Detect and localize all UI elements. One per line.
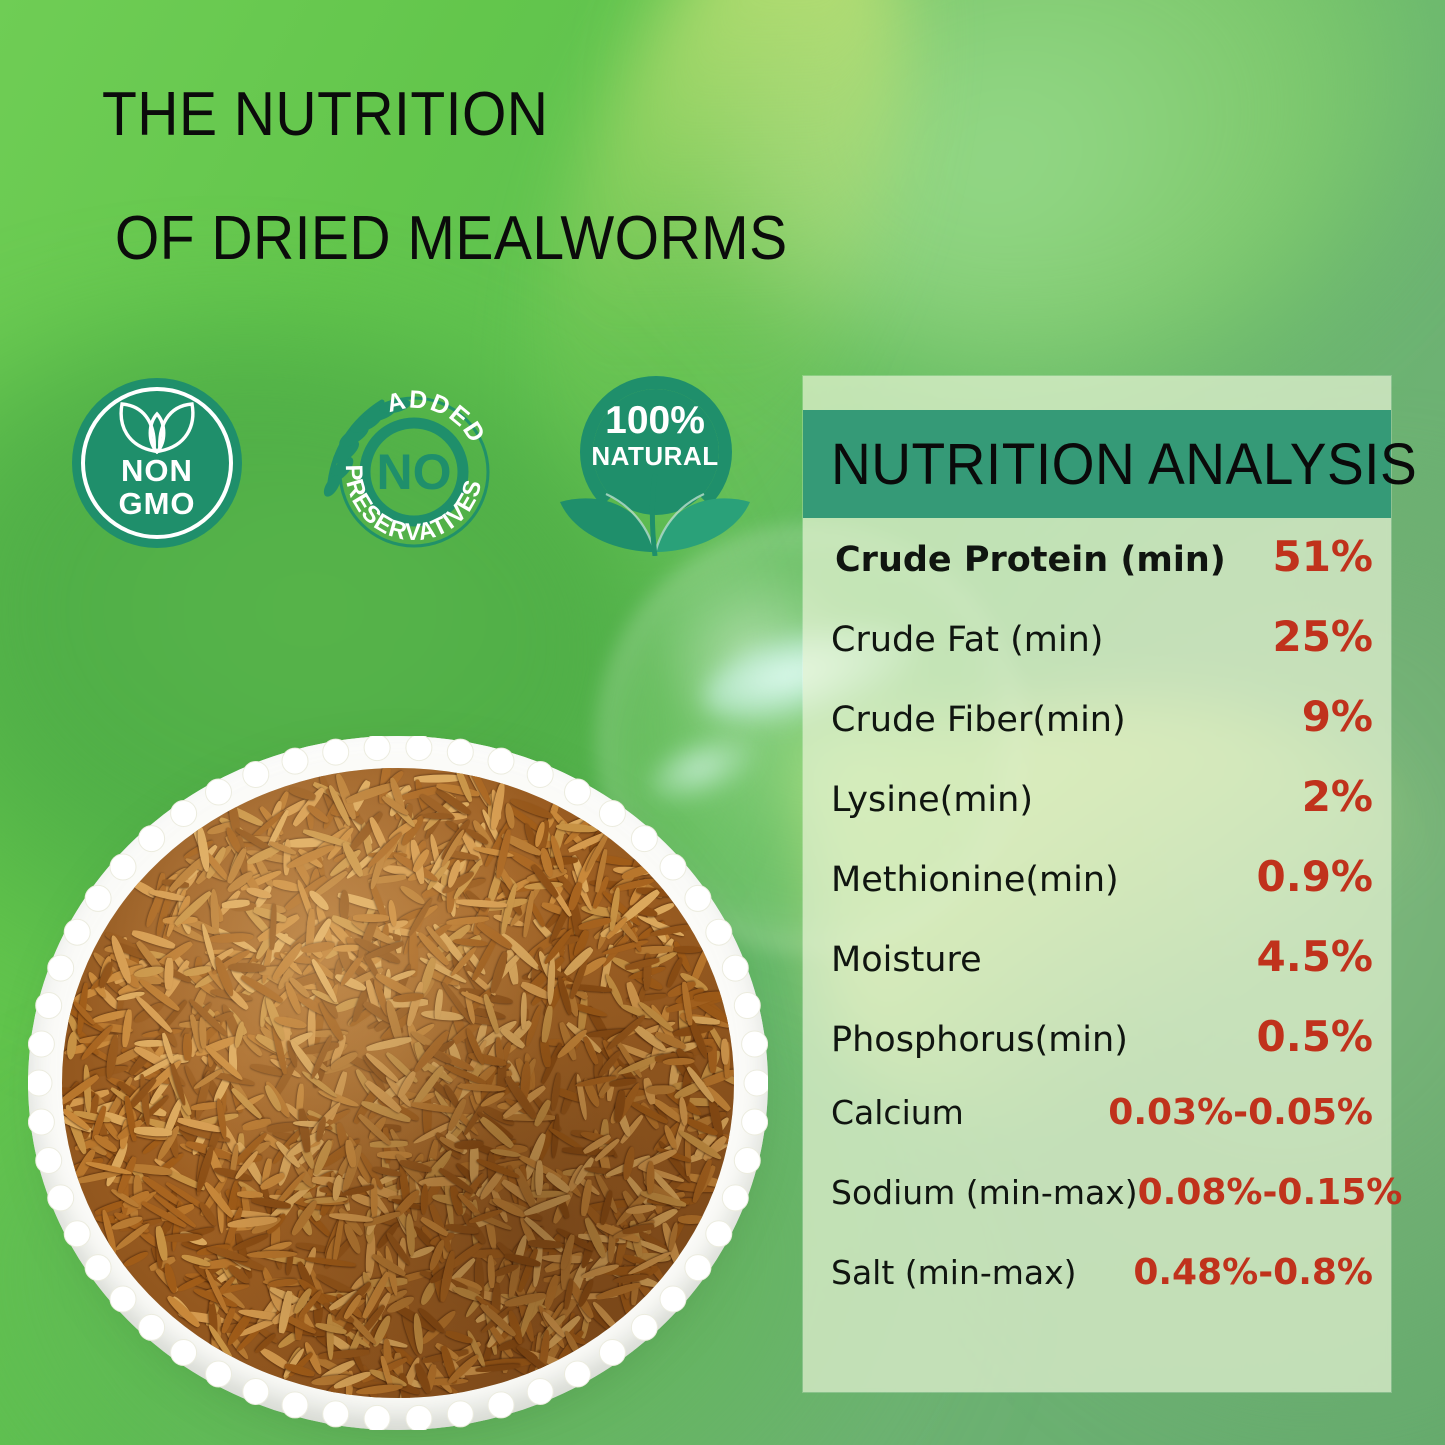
badge-100-natural: 100% NATURAL xyxy=(554,376,756,554)
nutrient-value: 2% xyxy=(1302,772,1373,821)
nutrient-value: 0.48%-0.8% xyxy=(1133,1252,1373,1293)
badge-natural-label: 100% NATURAL xyxy=(554,400,756,471)
badge-arc-top-text: ADDED xyxy=(384,386,492,449)
infographic-poster: THE NUTRITION OF DRIED MEALWORMS NON GMO xyxy=(0,0,1445,1445)
nutrient-label: Lysine(min) xyxy=(817,780,1033,820)
mealworm-pile xyxy=(62,768,734,1398)
table-row: Phosphorus(min)0.5% xyxy=(817,1012,1373,1092)
page-title: THE NUTRITION OF DRIED MEALWORMS xyxy=(102,84,922,270)
nutrient-label: Crude Fiber(min) xyxy=(817,700,1126,740)
table-row: Salt (min-max)0.48%-0.8% xyxy=(817,1252,1373,1332)
nutrition-table: Crude Protein (min)51%Crude Fat (min)25%… xyxy=(803,518,1391,1332)
nutrient-value: 9% xyxy=(1302,692,1373,741)
nutrient-label: Moisture xyxy=(817,940,982,980)
table-row: Lysine(min)2% xyxy=(817,772,1373,852)
badge-row: NON GMO xyxy=(72,378,772,553)
badge-natural-line-1: 100% xyxy=(554,400,756,441)
nutrient-value: 0.5% xyxy=(1257,1012,1373,1061)
nutrient-value: 0.03%-0.05% xyxy=(1108,1092,1373,1133)
nutrient-label: Sodium (min-max) xyxy=(817,1173,1138,1212)
nutrient-label: Crude Fat (min) xyxy=(817,620,1103,660)
badge-non-gmo-line-2: GMO xyxy=(72,487,242,520)
nutrient-label: Salt (min-max) xyxy=(817,1253,1077,1292)
badge-no-added-preservatives: NO ADDED PRESERVATIVES xyxy=(320,374,508,554)
table-row: Moisture4.5% xyxy=(817,932,1373,1012)
product-photo xyxy=(18,728,776,1438)
nutrient-value: 51% xyxy=(1272,532,1373,581)
badge-non-gmo-line-1: NON xyxy=(72,454,242,487)
nutrition-analysis-panel: NUTRITION ANALYSIS Crude Protein (min)51… xyxy=(803,376,1391,1392)
table-row: Sodium (min-max)0.08%-0.15% xyxy=(817,1172,1373,1252)
table-row: Crude Fiber(min)9% xyxy=(817,692,1373,772)
nutrient-label: Methionine(min) xyxy=(817,860,1119,900)
leaf-icon xyxy=(108,396,206,454)
badge-non-gmo-label: NON GMO xyxy=(72,454,242,520)
badge-no-preservatives-graphic: NO ADDED PRESERVATIVES xyxy=(320,374,508,554)
badge-no-center-text: NO xyxy=(377,444,452,500)
badge-non-gmo: NON GMO xyxy=(72,378,242,548)
nutrient-value: 25% xyxy=(1272,612,1373,661)
table-row: Crude Fat (min)25% xyxy=(817,612,1373,692)
table-row: Methionine(min)0.9% xyxy=(817,852,1373,932)
nutrient-label: Calcium xyxy=(817,1093,964,1132)
panel-top-strip xyxy=(803,376,1391,410)
nutrient-label: Crude Protein (min) xyxy=(817,540,1226,580)
title-line-2: OF DRIED MEALWORMS xyxy=(102,208,856,270)
panel-header: NUTRITION ANALYSIS xyxy=(803,410,1391,518)
nutrient-value: 0.9% xyxy=(1257,852,1373,901)
two-leaves-icon xyxy=(554,464,756,556)
panel-header-title: NUTRITION ANALYSIS xyxy=(831,431,1417,498)
table-row: Crude Protein (min)51% xyxy=(817,532,1373,612)
nutrient-value: 4.5% xyxy=(1257,932,1373,981)
table-row: Calcium0.03%-0.05% xyxy=(817,1092,1373,1172)
nutrient-value: 0.08%-0.15% xyxy=(1138,1172,1403,1213)
nutrient-label: Phosphorus(min) xyxy=(817,1020,1128,1060)
bowl-interior xyxy=(62,768,734,1398)
title-line-1: THE NUTRITION xyxy=(102,84,856,146)
